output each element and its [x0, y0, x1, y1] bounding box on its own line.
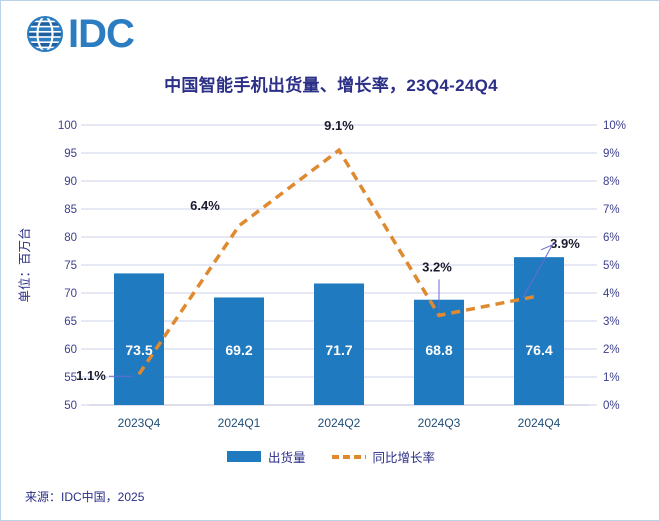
svg-text:6%: 6%	[603, 232, 620, 244]
logo-wordmark: IDC	[68, 14, 134, 54]
y-axis-title: 单位：百万台	[17, 227, 32, 302]
svg-text:55: 55	[64, 372, 77, 384]
svg-text:70: 70	[64, 288, 77, 300]
globe-icon	[23, 12, 67, 56]
growth-percent-label: 6.4%	[190, 198, 220, 213]
svg-text:5%: 5%	[603, 260, 620, 272]
x-axis-label-2024Q3: 2024Q3	[418, 416, 461, 430]
svg-text:90: 90	[64, 176, 77, 188]
chart-page: IDC 中国智能手机出货量、增长率，23Q4-24Q4 100959085807…	[0, 0, 660, 521]
growth-percent-label: 9.1%	[324, 118, 354, 133]
legend-label-growth-rate: 同比增长率	[373, 447, 436, 466]
bar-value-label: 73.5	[125, 342, 152, 358]
bar-value-label: 69.2	[225, 342, 252, 358]
bar-2023Q4	[114, 273, 164, 405]
bar-value-labels: 73.569.271.768.876.4	[125, 342, 552, 358]
y-axis-right-ticks: 10%9%8%7%6%5%4%3%2%1%0%	[603, 120, 626, 412]
idc-logo: IDC	[23, 11, 134, 57]
svg-text:95: 95	[64, 148, 77, 160]
chart-legend: 出货量 同比增长率	[1, 447, 660, 466]
growth-percent-label: 3.2%	[422, 259, 452, 274]
svg-text:65: 65	[64, 316, 77, 328]
growth-percent-label: 3.9%	[550, 236, 580, 251]
svg-text:7%: 7%	[603, 204, 620, 216]
svg-text:10%: 10%	[603, 120, 626, 132]
source-note: 来源：IDC中国，2025	[25, 488, 144, 505]
bar-swatch-icon	[227, 451, 261, 462]
svg-text:4%: 4%	[603, 288, 620, 300]
svg-text:60: 60	[64, 344, 77, 356]
x-axis-category-labels: 2023Q42024Q12024Q22024Q32024Q4	[118, 416, 561, 430]
svg-text:50: 50	[64, 400, 77, 412]
svg-text:75: 75	[64, 260, 77, 272]
svg-text:8%: 8%	[603, 176, 620, 188]
bar-value-label: 68.8	[425, 342, 452, 358]
svg-text:3%: 3%	[603, 316, 620, 328]
chart-title: 中国智能手机出货量、增长率，23Q4-24Q4	[1, 71, 660, 96]
dashed-line-swatch-icon	[332, 451, 366, 462]
bar-2024Q4	[514, 257, 564, 405]
bar-value-label: 76.4	[525, 342, 552, 358]
svg-text:80: 80	[64, 232, 77, 244]
svg-text:85: 85	[64, 204, 77, 216]
svg-text:9%: 9%	[603, 148, 620, 160]
bar-series	[114, 257, 564, 405]
x-axis-label-2024Q4: 2024Q4	[518, 416, 561, 430]
y-axis-left-ticks: 10095908580757065605550	[58, 120, 77, 412]
svg-text:2%: 2%	[603, 344, 620, 356]
legend-label-shipments: 出货量	[268, 447, 306, 466]
combo-chart: 10095908580757065605550 10%9%8%7%6%5%4%3…	[1, 101, 660, 446]
x-axis-label-2023Q4: 2023Q4	[118, 416, 161, 430]
x-axis-label-2024Q2: 2024Q2	[318, 416, 361, 430]
growth-percent-label: 1.1%	[76, 368, 106, 383]
legend-item-shipments[interactable]: 出货量	[227, 447, 306, 466]
legend-item-growth-rate[interactable]: 同比增长率	[332, 447, 436, 466]
bar-value-label: 71.7	[325, 342, 352, 358]
x-axis-label-2024Q1: 2024Q1	[218, 416, 261, 430]
svg-text:0%: 0%	[603, 400, 620, 412]
svg-text:1%: 1%	[603, 372, 620, 384]
svg-text:100: 100	[58, 120, 77, 132]
